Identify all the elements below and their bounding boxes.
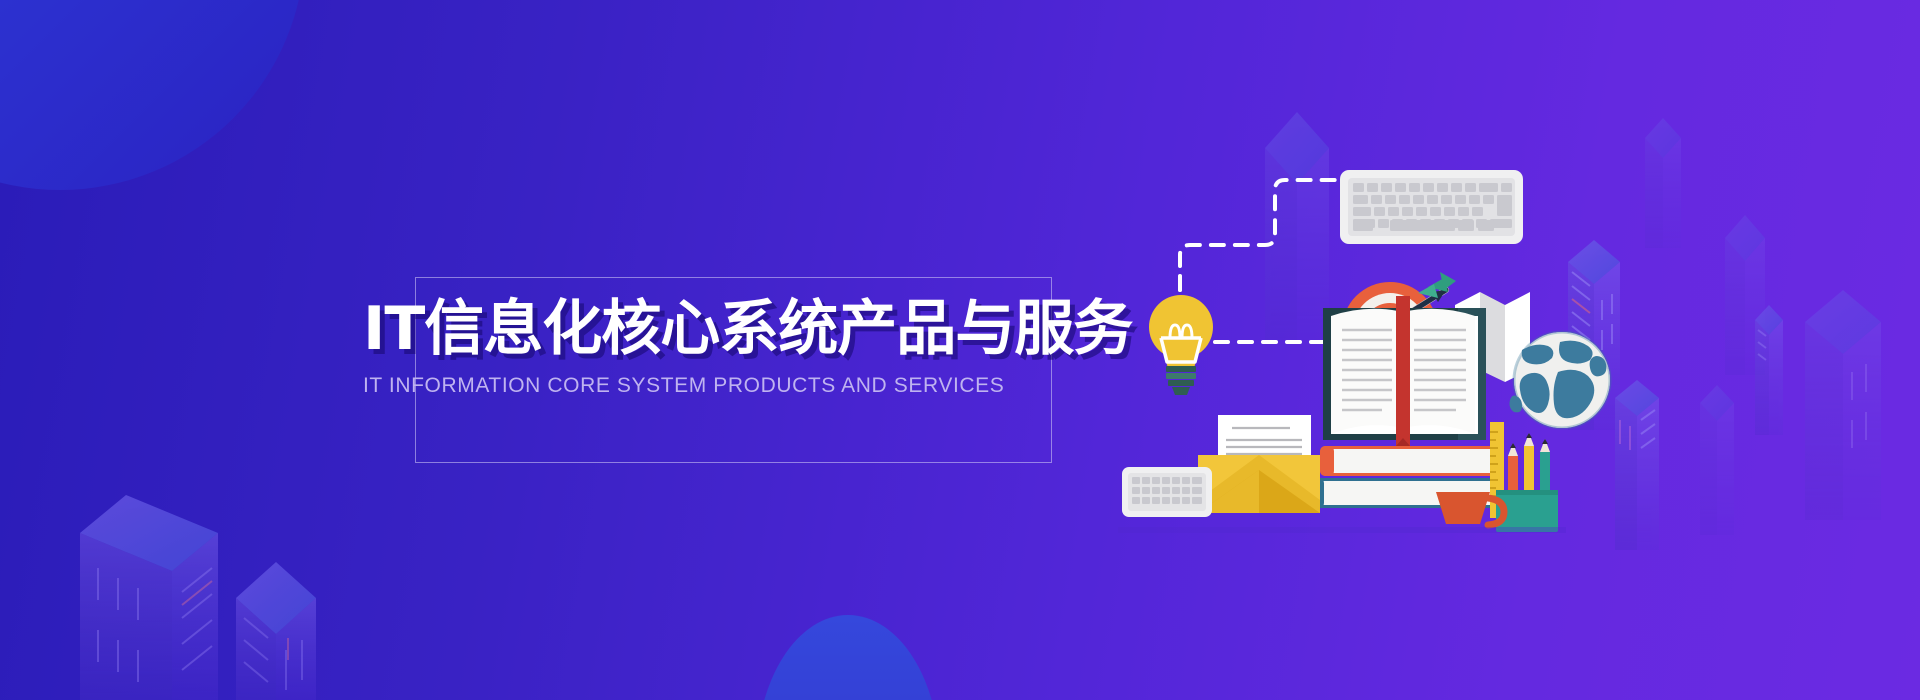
hero-text-block: IT信息化核心系统产品与服务 IT INFORMATION CORE SYSTE… xyxy=(415,277,1052,463)
page-title: IT信息化核心系统产品与服务 xyxy=(363,299,1123,359)
hero-banner: IT信息化核心系统产品与服务 IT INFORMATION CORE SYSTE… xyxy=(0,0,1920,700)
lightbulb-icon xyxy=(1149,276,1213,395)
ground-shadow xyxy=(1118,527,1566,533)
envelope-document-icon xyxy=(1198,415,1320,513)
keyboard-top-icon xyxy=(1340,170,1523,244)
open-book-icon xyxy=(1323,296,1486,446)
dashed-connector-icon xyxy=(1180,180,1345,290)
page-subtitle: IT INFORMATION CORE SYSTEM PRODUCTS AND … xyxy=(363,374,1123,398)
keyboard-left-icon xyxy=(1122,467,1212,517)
